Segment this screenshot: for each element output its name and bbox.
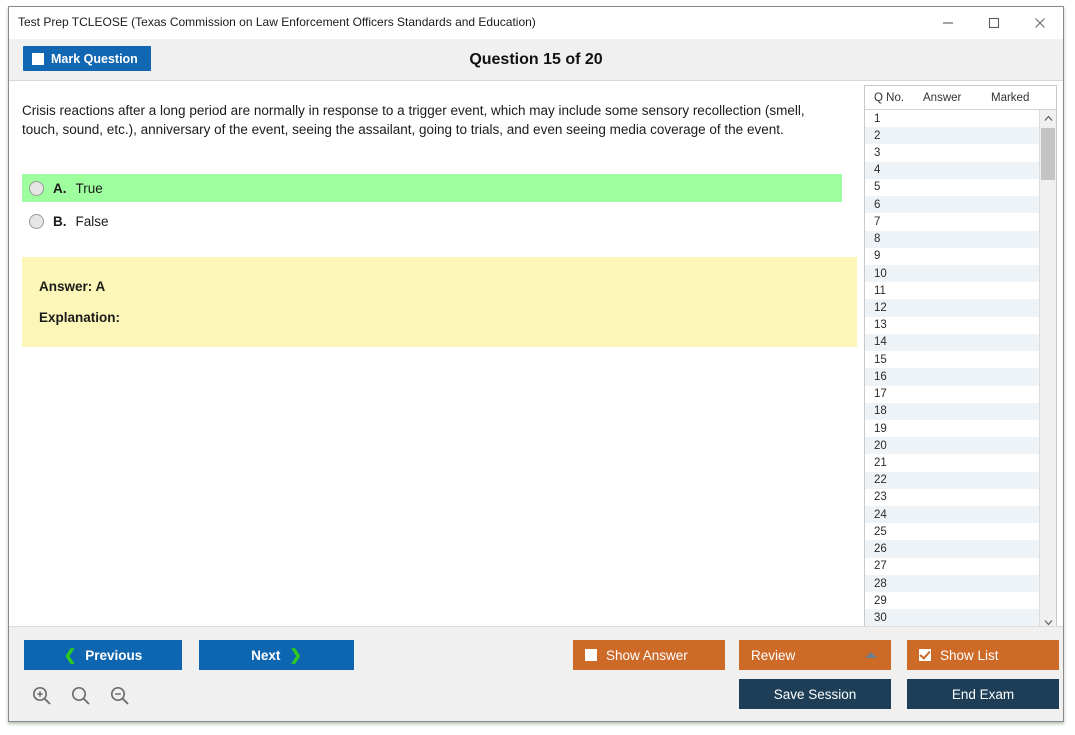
review-label: Review [751, 648, 795, 663]
minimize-icon[interactable] [925, 7, 971, 38]
zoom-reset-icon[interactable] [70, 685, 92, 712]
cell-qno: 16 [865, 371, 923, 383]
table-row[interactable]: 19 [865, 420, 1040, 437]
cell-qno: 15 [865, 354, 923, 366]
table-row[interactable]: 10 [865, 265, 1040, 282]
table-row[interactable]: 3 [865, 144, 1040, 161]
zoom-toolbar [31, 685, 131, 712]
cell-qno: 4 [865, 164, 923, 176]
column-header-qno: Q No. [865, 92, 923, 104]
show-answer-button[interactable]: Show Answer [573, 640, 725, 670]
footer-toolbar: ❮ Previous Next ❯ [9, 626, 1063, 721]
table-row[interactable]: 17 [865, 386, 1040, 403]
scrollbar-thumb[interactable] [1041, 128, 1055, 180]
option-a-radio[interactable] [29, 181, 44, 196]
option-b-radio[interactable] [29, 214, 44, 229]
chevron-up-icon[interactable] [1040, 110, 1056, 127]
show-answer-checkbox[interactable] [585, 649, 597, 661]
cell-qno: 30 [865, 612, 923, 624]
table-row[interactable]: 11 [865, 282, 1040, 299]
page-title: Question 15 of 20 [9, 39, 1063, 81]
table-row[interactable]: 29 [865, 592, 1040, 609]
cell-qno: 19 [865, 423, 923, 435]
cell-qno: 23 [865, 491, 923, 503]
table-row[interactable]: 6 [865, 196, 1040, 213]
table-row[interactable]: 15 [865, 351, 1040, 368]
title-bar: Test Prep TCLEOSE (Texas Commission on L… [9, 7, 1063, 39]
table-row[interactable]: 27 [865, 558, 1040, 575]
cell-qno: 14 [865, 336, 923, 348]
cell-qno: 5 [865, 181, 923, 193]
answer-panel: Answer: A Explanation: [22, 257, 857, 347]
cell-qno: 2 [865, 130, 923, 142]
question-list-panel: Q No. Answer Marked 12345678910111213141… [864, 85, 1057, 630]
cell-qno: 25 [865, 526, 923, 538]
option-a[interactable]: A. True [22, 174, 842, 202]
zoom-out-icon[interactable] [109, 685, 131, 712]
column-header-marked: Marked [991, 92, 1051, 104]
mark-question-button[interactable]: Mark Question [23, 46, 151, 71]
previous-button[interactable]: ❮ Previous [24, 640, 182, 670]
table-row[interactable]: 28 [865, 575, 1040, 592]
option-b-letter: B. [53, 214, 67, 229]
mark-question-checkbox[interactable] [32, 53, 44, 65]
cell-qno: 27 [865, 560, 923, 572]
table-row[interactable]: 12 [865, 299, 1040, 316]
option-a-text: True [76, 181, 103, 196]
explanation-label: Explanation: [39, 310, 120, 325]
table-row[interactable]: 22 [865, 472, 1040, 489]
zoom-in-icon[interactable] [31, 685, 53, 712]
cell-qno: 11 [865, 285, 923, 297]
next-label: Next [251, 648, 280, 663]
show-list-checkbox[interactable] [919, 649, 931, 661]
save-session-button[interactable]: Save Session [739, 679, 891, 709]
answer-label: Answer: A [39, 279, 105, 294]
review-dropdown[interactable]: Review [739, 640, 891, 670]
option-a-letter: A. [53, 181, 67, 196]
show-answer-label: Show Answer [606, 648, 688, 663]
cell-qno: 20 [865, 440, 923, 452]
show-list-button[interactable]: Show List [907, 640, 1059, 670]
column-header-answer: Answer [923, 92, 991, 104]
table-row[interactable]: 9 [865, 248, 1040, 265]
app-window: Test Prep TCLEOSE (Texas Commission on L… [8, 6, 1064, 722]
table-row[interactable]: 14 [865, 334, 1040, 351]
table-row[interactable]: 21 [865, 454, 1040, 471]
cell-qno: 22 [865, 474, 923, 486]
window-title: Test Prep TCLEOSE (Texas Commission on L… [18, 15, 536, 29]
option-b-text: False [76, 214, 109, 229]
question-text: Crisis reactions after a long period are… [22, 101, 842, 139]
show-list-label: Show List [940, 648, 999, 663]
next-button[interactable]: Next ❯ [199, 640, 354, 670]
cell-qno: 26 [865, 543, 923, 555]
cell-qno: 7 [865, 216, 923, 228]
cell-qno: 9 [865, 250, 923, 262]
table-row[interactable]: 8 [865, 231, 1040, 248]
question-list-rows[interactable]: 1234567891011121314151617181920212223242… [865, 110, 1040, 630]
table-row[interactable]: 23 [865, 489, 1040, 506]
table-row[interactable]: 1 [865, 110, 1040, 127]
table-row[interactable]: 25 [865, 523, 1040, 540]
table-row[interactable]: 2 [865, 127, 1040, 144]
table-row[interactable]: 18 [865, 403, 1040, 420]
end-exam-label: End Exam [952, 687, 1014, 702]
chevron-left-icon: ❮ [64, 648, 77, 663]
chevron-right-icon: ❯ [289, 648, 302, 663]
cell-qno: 24 [865, 509, 923, 521]
question-content: Crisis reactions after a long period are… [9, 81, 856, 626]
cell-qno: 29 [865, 595, 923, 607]
cell-qno: 6 [865, 199, 923, 211]
table-row[interactable]: 30 [865, 609, 1040, 626]
previous-label: Previous [85, 648, 142, 663]
question-list-scrollbar[interactable] [1039, 110, 1056, 630]
cell-qno: 17 [865, 388, 923, 400]
question-list-header: Q No. Answer Marked [865, 86, 1056, 110]
cell-qno: 8 [865, 233, 923, 245]
chevron-up-icon [865, 652, 877, 658]
close-icon[interactable] [1017, 7, 1063, 38]
cell-qno: 10 [865, 268, 923, 280]
table-row[interactable]: 26 [865, 540, 1040, 557]
mark-question-label: Mark Question [51, 52, 138, 66]
table-row[interactable]: 4 [865, 162, 1040, 179]
table-row[interactable]: 20 [865, 437, 1040, 454]
cell-qno: 3 [865, 147, 923, 159]
cell-qno: 28 [865, 578, 923, 590]
option-b[interactable]: B. False [22, 207, 842, 235]
cell-qno: 21 [865, 457, 923, 469]
table-row[interactable]: 16 [865, 368, 1040, 385]
cell-qno: 1 [865, 113, 923, 125]
save-session-label: Save Session [774, 687, 857, 702]
table-row[interactable]: 13 [865, 317, 1040, 334]
cell-qno: 12 [865, 302, 923, 314]
cell-qno: 18 [865, 405, 923, 417]
cell-qno: 13 [865, 319, 923, 331]
header-bar: Question 15 of 20 Mark Question [9, 39, 1063, 81]
end-exam-button[interactable]: End Exam [907, 679, 1059, 709]
maximize-icon[interactable] [971, 7, 1017, 38]
table-row[interactable]: 5 [865, 179, 1040, 196]
table-row[interactable]: 24 [865, 506, 1040, 523]
table-row[interactable]: 7 [865, 213, 1040, 230]
